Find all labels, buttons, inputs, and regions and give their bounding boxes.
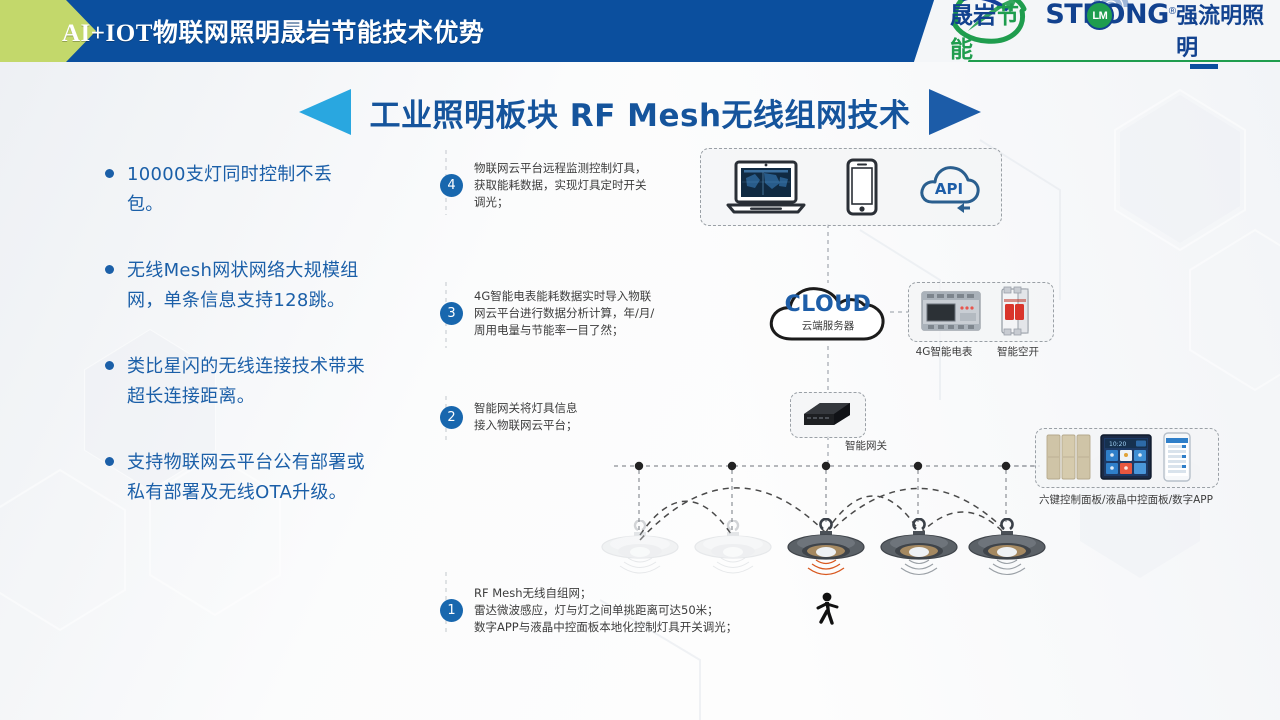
right-arrow-icon bbox=[929, 89, 981, 135]
header-accent-tick bbox=[1190, 64, 1218, 69]
phone-icon bbox=[845, 158, 879, 216]
shengyan-logo-text: 晟岩节能 bbox=[950, 0, 1037, 64]
bullet-item: 支持物联网云平台公有部署或私有部署及无线OTA升级。 bbox=[105, 448, 365, 508]
bullet-item: 类比星闪的无线连接技术带来超长连接距离。 bbox=[105, 352, 365, 412]
step-badge-2: 2 bbox=[440, 406, 463, 429]
step-badge-4: 4 bbox=[440, 174, 463, 197]
bullet-dot-icon bbox=[105, 361, 114, 370]
step-text-1: RF Mesh无线自组网； 雷达微波感应，灯与灯之间单挑距离可达50米； 数字A… bbox=[474, 585, 737, 636]
gateway-box-icon bbox=[798, 398, 856, 430]
bullet-text: 支持物联网云平台公有部署或私有部署及无线OTA升级。 bbox=[127, 448, 365, 508]
bullet-item: 10000支灯同时控制不丢包。 bbox=[105, 160, 365, 220]
cloud-label-en: CLOUD bbox=[766, 292, 890, 317]
section-title: 工业照明板块 RF Mesh无线组网技术 bbox=[369, 90, 910, 135]
lamp-fixture-active bbox=[967, 518, 1047, 594]
step-text-4: 物联网云平台远程监测控制灯具， 获取能耗数据，实现灯具定时开关 调光； bbox=[474, 160, 647, 211]
step-item-1: 1 RF Mesh无线自组网； 雷达微波感应，灯与灯之间单挑距离可达50米； 数… bbox=[440, 585, 737, 636]
panels-caption: 六键控制面板/液晶中控面板/数字APP bbox=[1035, 492, 1217, 507]
lamp-fixture-inactive bbox=[600, 520, 680, 590]
strong-logo: STRONG LM ® 强流明照明 bbox=[1045, 0, 1274, 62]
lamp-fixture-active bbox=[786, 518, 866, 594]
step-text-3: 4G智能电表能耗数据实时导入物联 网云平台进行数据分析计算，年/月/ 周用电量与… bbox=[474, 288, 654, 339]
bullet-dot-icon bbox=[105, 265, 114, 274]
strong-cn-name: 强流明照明 bbox=[1176, 0, 1274, 62]
step-badge-1: 1 bbox=[440, 599, 463, 622]
touch-panel-icon: 10:20 bbox=[1100, 434, 1152, 480]
page-title: AI+IOT物联网照明晟岩节能技术优势 bbox=[62, 0, 484, 62]
step-item-2: 2 智能网关将灯具信息 接入物联网云平台； bbox=[440, 400, 578, 434]
page-header: AI+IOT物联网照明晟岩节能技术优势 晟岩节能 STRONG LM bbox=[0, 0, 1280, 62]
registered-mark: ® bbox=[1169, 6, 1176, 17]
bullet-text: 类比星闪的无线连接技术带来超长连接距离。 bbox=[127, 352, 365, 412]
step-item-3: 3 4G智能电表能耗数据实时导入物联 网云平台进行数据分析计算，年/月/ 周用电… bbox=[440, 288, 654, 339]
cloud-label-cn: 云端服务器 bbox=[766, 318, 890, 333]
slide-root: AI+IOT物联网照明晟岩节能技术优势 晟岩节能 STRONG LM bbox=[0, 0, 1280, 720]
step-item-4: 4 物联网云平台远程监测控制灯具， 获取能耗数据，实现灯具定时开关 调光； bbox=[440, 160, 647, 211]
laptop-icon bbox=[722, 158, 810, 216]
section-title-row: 工业照明板块 RF Mesh无线组网技术 bbox=[0, 86, 1280, 138]
meter-caption: 4G智能电表 bbox=[908, 344, 980, 359]
wall-panel-icon bbox=[1046, 434, 1092, 480]
api-cloud-icon: API bbox=[918, 160, 980, 214]
feature-bullet-list: 10000支灯同时控制不丢包。 无线Mesh网状网络大规模组网，单条信息支持12… bbox=[105, 160, 365, 544]
bullet-text: 10000支灯同时控制不丢包。 bbox=[127, 160, 365, 220]
lamp-fixture-inactive bbox=[693, 520, 773, 590]
cloud-label-group: CLOUD 云端服务器 bbox=[766, 292, 890, 333]
left-arrow-icon bbox=[299, 89, 351, 135]
api-text: API bbox=[935, 180, 963, 198]
lamp-fixture-active bbox=[879, 518, 959, 594]
brand-logo-zone: 晟岩节能 STRONG LM ® 强流明照明 bbox=[950, 0, 1280, 62]
svg-text:10:20: 10:20 bbox=[1109, 441, 1126, 448]
step-text-2: 智能网关将灯具信息 接入物联网云平台； bbox=[474, 400, 578, 434]
step-badge-3: 3 bbox=[440, 302, 463, 325]
bullet-item: 无线Mesh网状网络大规模组网，单条信息支持128跳。 bbox=[105, 256, 365, 316]
smart-meter-icon bbox=[920, 288, 982, 334]
breaker-caption: 智能空开 bbox=[982, 344, 1054, 359]
walking-person-icon bbox=[812, 592, 840, 626]
bullet-dot-icon bbox=[105, 169, 114, 178]
bullet-dot-icon bbox=[105, 457, 114, 466]
bullet-text: 无线Mesh网状网络大规模组网，单条信息支持128跳。 bbox=[127, 256, 365, 316]
mobile-app-icon bbox=[1162, 432, 1192, 482]
shengyan-logo: 晟岩节能 bbox=[950, 0, 1037, 64]
gateway-caption: 智能网关 bbox=[836, 438, 896, 453]
circuit-breaker-icon bbox=[994, 286, 1036, 336]
